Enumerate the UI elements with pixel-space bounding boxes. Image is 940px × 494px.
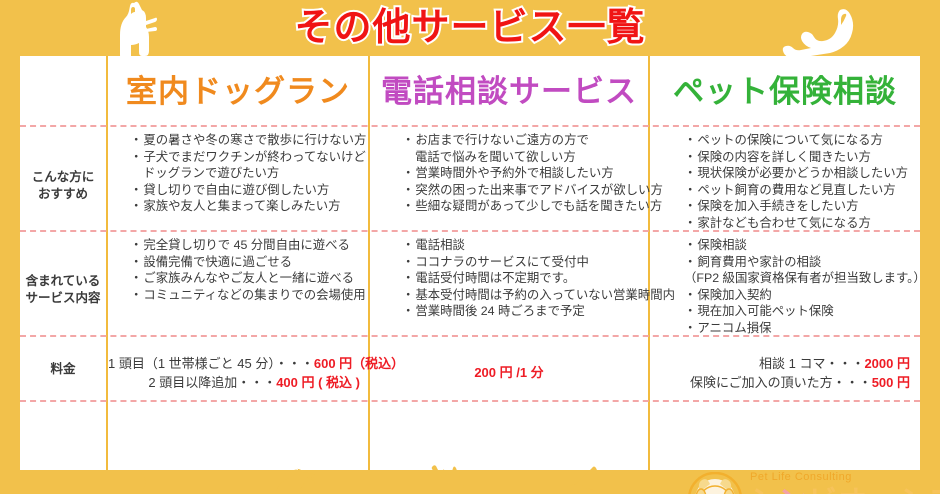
price-indoor-dog-run: 1 頭目（1 世帯様ごと 45 分）・・・600 円（税込）2 頭目以降追加・・… xyxy=(108,354,366,392)
list-item-text: 子犬でまだワクチンが終わってないけど xyxy=(143,150,365,164)
row-label-line-2: おすすめ xyxy=(20,186,106,203)
bullet-marker: ・ xyxy=(130,288,142,302)
list-item-text: 現状保険が必要かどうか相談したい方 xyxy=(697,166,908,180)
cell-included-phone-consult: ・電話相談・ココナラのサービスにて受付中・電話受付時間は不定期です。・基本受付時… xyxy=(402,237,648,320)
list-item: ・家計なども合わせて気になる方 xyxy=(684,215,920,232)
bullet-marker: ・ xyxy=(684,304,696,318)
column-divider-1 xyxy=(106,56,108,470)
service-comparison-poster: その他サービス一覧 室内ドッグラン 電話相談サービス ペット保険相談 こんな方に… xyxy=(0,0,940,494)
cell-recommended-indoor-dog-run: ・夏の暑さや冬の寒さで散歩に行けない方・子犬でまだワクチンが終わってないけどドッ… xyxy=(130,132,368,215)
price-label: 1 頭目（1 世帯様ごと 45 分）・・・ xyxy=(108,356,314,371)
bullet-marker: ・ xyxy=(402,199,414,213)
logo-brand-name: シンビオーシス xyxy=(748,482,940,494)
price-line: 2 頭目以降追加・・・400 円 ( 税込 ) xyxy=(108,373,360,392)
row-label-line-1: こんな方に xyxy=(20,169,106,186)
list-item-text: 貸し切りで自由に遊び倒したい方 xyxy=(143,183,329,197)
list-item: ・基本受付時間は予約の入っていない営業時間内 xyxy=(402,287,648,304)
price-phone-consult: 200 円 /1 分 xyxy=(370,363,648,382)
price-line: 1 頭目（1 世帯様ごと 45 分）・・・600 円（税込） xyxy=(108,354,360,373)
column-header-indoor-dog-run: 室内ドッグラン xyxy=(108,68,368,116)
list-item: ・保険を加入手続きをしたい方 xyxy=(684,198,920,215)
list-item-text: 設備完備で快適に過ごせる xyxy=(143,255,292,269)
bullet-marker: ・ xyxy=(402,255,414,269)
bullet-list: ・お店まで行けないご遠方の方で電話で悩みを聞いて欲しい方・営業時間外や予約外で相… xyxy=(402,132,648,215)
list-item: ・設備完備で快適に過ごせる xyxy=(130,254,368,271)
bullet-marker: ・ xyxy=(130,238,142,252)
row-label-price: 料金 xyxy=(20,361,106,378)
list-item: ・電話受付時間は不定期です。 xyxy=(402,270,648,287)
list-item-text: 保険加入契約 xyxy=(697,288,771,302)
list-item: ・ペット飼育の費用など見直したい方 xyxy=(684,182,920,199)
cell-included-indoor-dog-run: ・完全貸し切りで 45 分間自由に遊べる・設備完備で快適に過ごせる・ご家族みんな… xyxy=(130,237,368,303)
list-item-text: 突然の困った出来事でアドバイスが欲しい方 xyxy=(415,183,662,197)
list-item-text: お店まで行けないご遠方の方で xyxy=(415,133,588,147)
price-amount: 2000 円 xyxy=(864,356,910,371)
list-item-text: 保険を加入手続きをしたい方 xyxy=(697,199,858,213)
price-label: 2 頭目以降追加・・・ xyxy=(148,375,276,390)
column-divider-3 xyxy=(648,56,650,470)
services-table: 室内ドッグラン 電話相談サービス ペット保険相談 こんな方に おすすめ 含まれて… xyxy=(20,56,920,470)
list-item-text: 営業時間外や予約外で相談したい方 xyxy=(415,166,613,180)
list-item: ・保険相談 xyxy=(684,237,920,254)
row-label-line-2: サービス内容 xyxy=(20,290,106,307)
list-item: ・貸し切りで自由に遊び倒したい方 xyxy=(130,182,368,199)
list-item-text: 保険相談 xyxy=(697,238,747,252)
list-item: ・完全貸し切りで 45 分間自由に遊べる xyxy=(130,237,368,254)
bullet-marker: ・ xyxy=(402,288,414,302)
list-item-text: 飼育費用や家計の相談 xyxy=(697,255,821,269)
cat-sitting-silhouette-icon xyxy=(420,464,486,494)
cell-included-pet-insurance: ・保険相談・飼育費用や家計の相談（FP2 級国家資格保有者が担当致します。）・保… xyxy=(684,237,920,337)
list-item-text: 完全貸し切りで 45 分間自由に遊べる xyxy=(143,238,350,252)
bullet-list: ・ペットの保険について気になる方・保険の内容を詳しく聞きたい方・現状保険が必要か… xyxy=(684,132,920,232)
column-header-pet-insurance: ペット保険相談 xyxy=(650,68,920,116)
list-item-text: ご家族みんなやご友人と一緒に遊べる xyxy=(143,271,354,285)
cat-walking-silhouette-icon xyxy=(130,473,202,494)
bullet-list: ・電話相談・ココナラのサービスにて受付中・電話受付時間は不定期です。・基本受付時… xyxy=(402,237,648,320)
list-item-text: 営業時間後 24 時ごろまで予定 xyxy=(415,304,584,318)
list-item: ・保険の内容を詳しく聞きたい方 xyxy=(684,149,920,166)
list-item: ・アニコム損保 xyxy=(684,320,920,337)
bullet-marker: ・ xyxy=(130,255,142,269)
list-item: ・ココナラのサービスにて受付中 xyxy=(402,254,648,271)
bullet-list: ・夏の暑さや冬の寒さで散歩に行けない方・子犬でまだワクチンが終わってないけどドッ… xyxy=(130,132,368,215)
price-line: 相談 1 コマ・・・2000 円 xyxy=(650,354,910,373)
dog-standing-silhouette-icon xyxy=(532,466,622,494)
list-item-text: 家計なども合わせて気になる方 xyxy=(697,216,870,230)
row-label-included-services: 含まれている サービス内容 xyxy=(20,273,106,307)
logo-name-part-1: シ xyxy=(748,486,778,494)
price-label: 保険にご加入の頂いた方・・・ xyxy=(690,375,872,390)
bullet-marker: ・ xyxy=(684,321,696,335)
list-item: ・夏の暑さや冬の寒さで散歩に行けない方 xyxy=(130,132,368,149)
column-divider-2 xyxy=(368,56,370,470)
list-item-text: 保険の内容を詳しく聞きたい方 xyxy=(697,150,870,164)
price-line: 200 円 /1 分 xyxy=(370,363,648,382)
bullet-marker: ・ xyxy=(130,271,142,285)
bullet-list: ・完全貸し切りで 45 分間自由に遊べる・設備完備で快適に過ごせる・ご家族みんな… xyxy=(130,237,368,303)
bullet-marker: ・ xyxy=(402,166,414,180)
price-pet-insurance: 相談 1 コマ・・・2000 円保険にご加入の頂いた方・・・500 円 xyxy=(650,354,918,392)
bullet-marker: ・ xyxy=(684,150,696,164)
column-header-phone-consult: 電話相談サービス xyxy=(370,68,648,116)
bullet-marker: ・ xyxy=(402,304,414,318)
bullet-marker: ・ xyxy=(684,166,696,180)
list-item: ・ペットの保険について気になる方 xyxy=(684,132,920,149)
bullet-marker: ・ xyxy=(684,199,696,213)
list-item-text: 電話相談 xyxy=(415,238,465,252)
list-item: ・保険加入契約 xyxy=(684,287,920,304)
cat-silhouette-icon xyxy=(778,8,856,60)
list-item: ・突然の困った出来事でアドバイスが欲しい方 xyxy=(402,182,648,199)
list-item: ・子犬でまだワクチンが終わってないけど xyxy=(130,149,368,166)
list-item-text: 現在加入可能ペット保険 xyxy=(697,304,833,318)
list-item: ・お店まで行けないご遠方の方で xyxy=(402,132,648,149)
list-item: ドッグランで遊びたい方 xyxy=(130,165,368,182)
list-item: ・営業時間外や予約外で相談したい方 xyxy=(402,165,648,182)
list-item-text: 電話受付時間は不定期です。 xyxy=(415,271,575,285)
list-item: ・ご家族みんなやご友人と一緒に遊べる xyxy=(130,270,368,287)
list-item-text: 夏の暑さや冬の寒さで散歩に行けない方 xyxy=(143,133,366,147)
list-item: ・現在加入可能ペット保険 xyxy=(684,303,920,320)
bullet-marker: ・ xyxy=(684,288,696,302)
list-item: ・飼育費用や家計の相談 xyxy=(684,254,920,271)
list-item: （FP2 級国家資格保有者が担当致します。） xyxy=(684,270,920,287)
bullet-marker: ・ xyxy=(684,216,696,230)
list-item: ・コミュニティなどの集まりでの会場使用 xyxy=(130,287,368,304)
bullet-marker: ・ xyxy=(684,255,696,269)
dog-jumping-silhouette-icon xyxy=(248,468,320,494)
row-label-line-1: 料金 xyxy=(20,361,106,378)
bullet-marker: ・ xyxy=(684,238,696,252)
logo-name-part-2: ビオーシス xyxy=(808,486,940,494)
row-label-line-1: 含まれている xyxy=(20,273,106,290)
logo-mark-dog-icon xyxy=(688,472,742,494)
row-label-recommended-for: こんな方に おすすめ xyxy=(20,169,106,203)
list-item: ・営業時間後 24 時ごろまで予定 xyxy=(402,303,648,320)
list-item-text: ペット飼育の費用など見直したい方 xyxy=(697,183,895,197)
brand-logo: Pet Life Consulting シンビオーシス xyxy=(688,471,920,494)
bullet-marker: ・ xyxy=(130,199,142,213)
bullet-marker: ・ xyxy=(130,150,142,164)
bullet-marker: ・ xyxy=(402,133,414,147)
title-band: その他サービス一覧 xyxy=(0,0,940,56)
bullet-list: ・保険相談・飼育費用や家計の相談（FP2 級国家資格保有者が担当致します。）・保… xyxy=(684,237,920,337)
list-item-text: 些細な疑問があって少しでも話を聞きたい方 xyxy=(415,199,662,213)
list-item: ・家族や友人と集まって楽しみたい方 xyxy=(130,198,368,215)
bullet-marker: ・ xyxy=(130,183,142,197)
list-item: 電話で悩みを聞いて欲しい方 xyxy=(402,149,648,166)
price-amount: 200 円 /1 分 xyxy=(474,365,543,380)
list-item-text: コミュニティなどの集まりでの会場使用 xyxy=(143,288,365,302)
bullet-marker: ・ xyxy=(402,271,414,285)
bullet-marker: ・ xyxy=(684,183,696,197)
price-amount: 500 円 xyxy=(872,375,910,390)
list-item: ・現状保険が必要かどうか相談したい方 xyxy=(684,165,920,182)
cell-recommended-pet-insurance: ・ペットの保険について気になる方・保険の内容を詳しく聞きたい方・現状保険が必要か… xyxy=(684,132,920,232)
price-label: 相談 1 コマ・・・ xyxy=(759,356,864,371)
bullet-marker: ・ xyxy=(402,183,414,197)
price-amount: 400 円 ( 税込 ) xyxy=(276,375,360,390)
cell-recommended-phone-consult: ・お店まで行けないご遠方の方で電話で悩みを聞いて欲しい方・営業時間外や予約外で相… xyxy=(402,132,648,215)
list-item: ・電話相談 xyxy=(402,237,648,254)
list-item-text: ココナラのサービスにて受付中 xyxy=(415,255,588,269)
list-item-text: ペットの保険について気になる方 xyxy=(697,133,883,147)
list-item-text: 家族や友人と集まって楽しみたい方 xyxy=(143,199,340,213)
list-item: ・些細な疑問があって少しでも話を聞きたい方 xyxy=(402,198,648,215)
logo-name-paw-char: ン xyxy=(778,486,808,494)
bullet-marker: ・ xyxy=(130,133,142,147)
row-divider-4 xyxy=(20,400,920,402)
row-divider-1 xyxy=(20,125,920,127)
list-item-text: アニコム損保 xyxy=(697,321,771,335)
bullet-marker: ・ xyxy=(684,133,696,147)
list-item-text: 基本受付時間は予約の入っていない営業時間内 xyxy=(415,288,675,302)
price-line: 保険にご加入の頂いた方・・・500 円 xyxy=(650,373,910,392)
bullet-marker: ・ xyxy=(402,238,414,252)
